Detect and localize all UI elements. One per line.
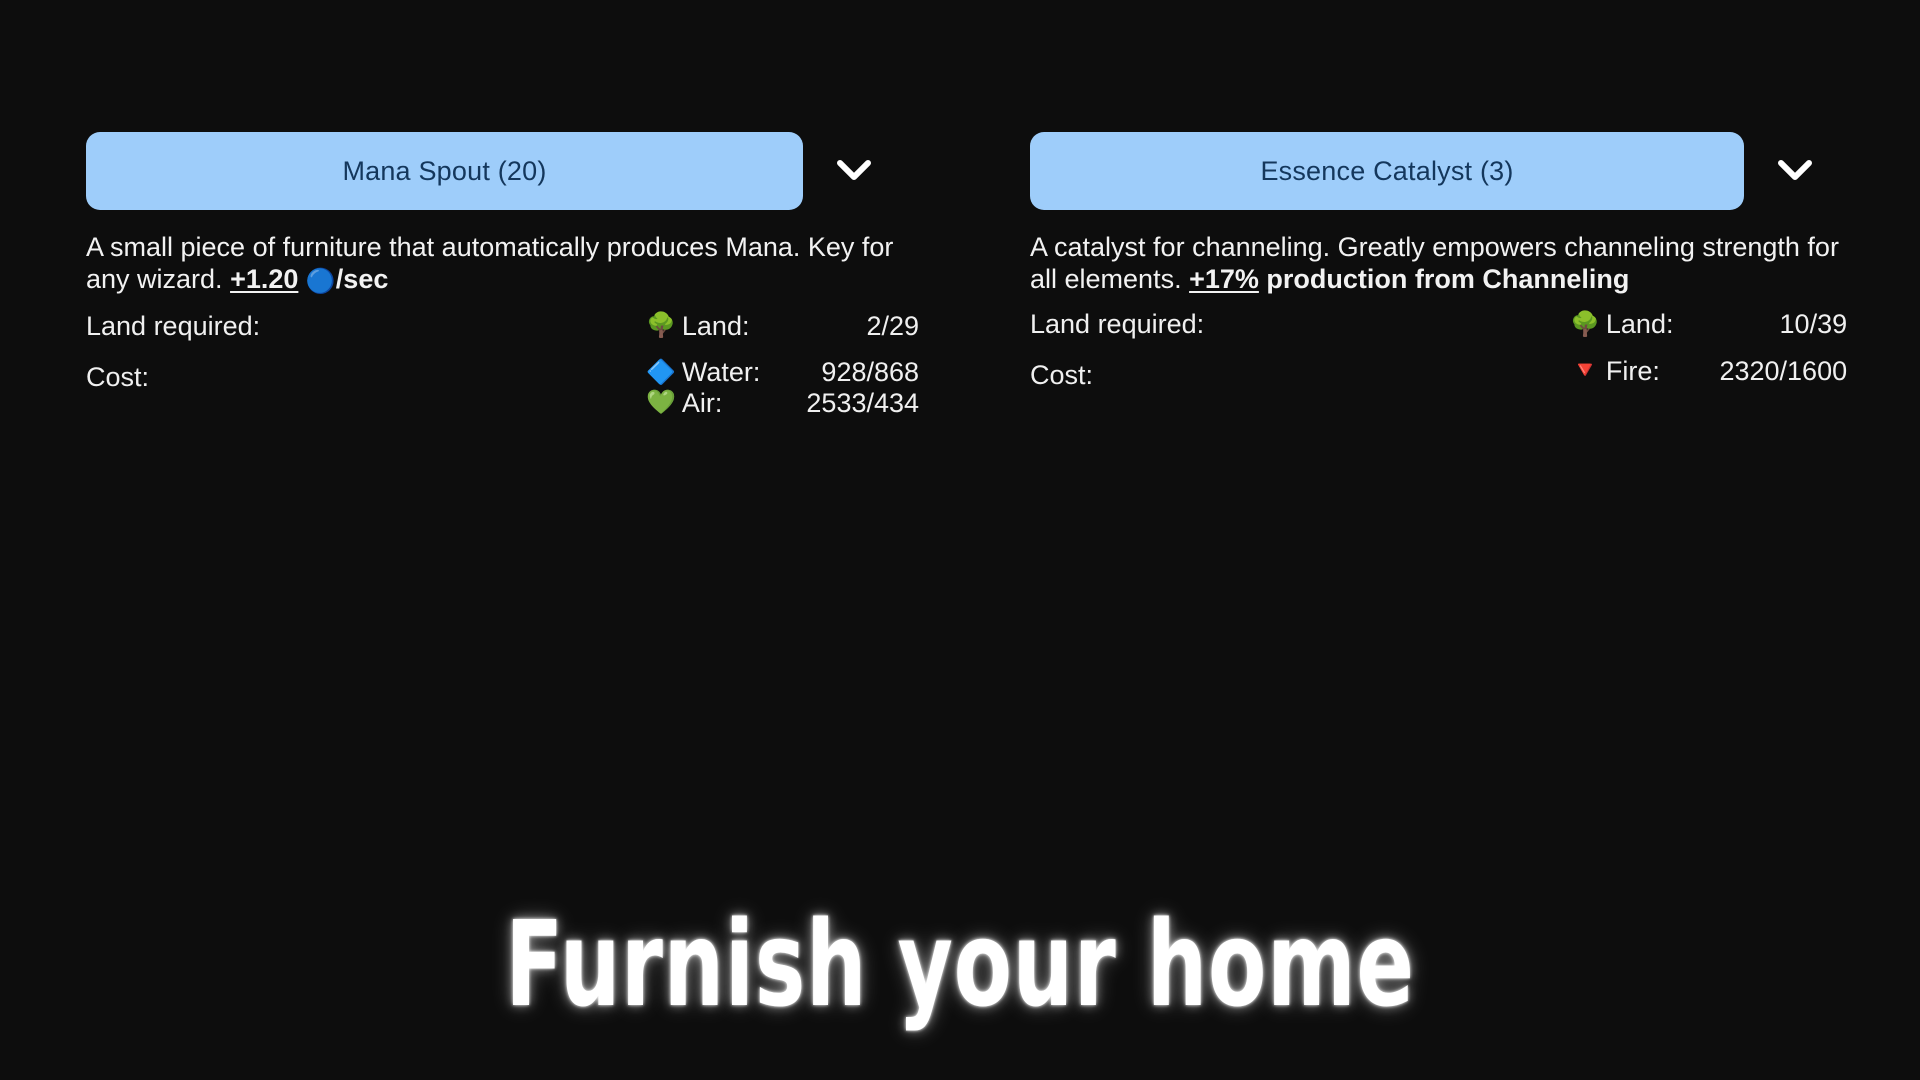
item-button-mana-spout[interactable]: Mana Spout (20) (86, 132, 803, 210)
chevron-down-icon[interactable] (1768, 144, 1822, 198)
chevron-down-icon[interactable] (827, 144, 881, 198)
caption-text: Furnish your home (269, 905, 1651, 1023)
cost-label: Cost: (86, 362, 149, 393)
item-button-essence-catalyst[interactable]: Essence Catalyst (3) (1030, 132, 1744, 210)
air-gem-icon: 💚 (646, 388, 682, 419)
water-gem-icon: 🔷 (646, 357, 682, 388)
description-text: A small piece of furniture that automati… (86, 232, 893, 294)
land-required-label: Land required: (1030, 309, 1204, 340)
cost-label: Cost: (1030, 360, 1093, 391)
boost-suffix: production from Channeling (1259, 264, 1629, 294)
card-header: Mana Spout (20) (86, 132, 958, 210)
land-required-label: Land required: (86, 311, 260, 342)
table-row: 🔻 Fire: 2320/1600 (1570, 356, 1847, 387)
card-header: Essence Catalyst (3) (1030, 132, 1906, 210)
fire-gem-icon: 🔻 (1570, 356, 1606, 387)
land-tree-icon: 🌳 (1570, 309, 1606, 340)
app-background: Mana Spout (20) A small piece of furnitu… (0, 0, 1920, 1080)
resource-name: Land: (682, 311, 761, 342)
spacer-row (1570, 340, 1847, 356)
item-card-mana-spout: Mana Spout (20) A small piece of furnitu… (86, 132, 958, 421)
resource-value: 928/868 (760, 357, 919, 388)
table-row: 🌳 Land: 2/29 (646, 311, 919, 342)
resource-name: Water: (682, 357, 761, 388)
resource-table: 🌳 Land: 2/29 🔷 Water: 928/868 💚 Air: 253… (646, 311, 919, 419)
resource-value: 10/39 (1673, 309, 1847, 340)
resource-value: 2320/1600 (1673, 356, 1847, 387)
table-row: 🔷 Water: 928/868 (646, 357, 919, 388)
mana-orb-icon: 🔵 (306, 268, 336, 295)
resource-value: 2533/434 (760, 388, 919, 419)
boost-suffix: /sec (336, 264, 389, 294)
spacer-row (646, 341, 919, 357)
table-row: 🌳 Land: 10/39 (1570, 309, 1847, 340)
resource-table: 🌳 Land: 10/39 🔻 Fire: 2320/1600 (1570, 309, 1847, 386)
resource-value: 2/29 (760, 311, 919, 342)
boost-value: +1.20 (230, 264, 298, 294)
item-description: A catalyst for channeling. Greatly empow… (1030, 231, 1860, 295)
boost-value: +17% (1189, 264, 1259, 294)
requirements-block: Land required: Cost: 🌳 Land: 2/29 🔷 Wate… (86, 311, 958, 421)
item-description: A small piece of furniture that automati… (86, 231, 916, 297)
resource-name: Land: (1606, 309, 1674, 340)
land-tree-icon: 🌳 (646, 311, 682, 342)
item-card-essence-catalyst: Essence Catalyst (3) A catalyst for chan… (1030, 132, 1906, 419)
requirements-block: Land required: Cost: 🌳 Land: 10/39 🔻 Fir… (1030, 309, 1906, 419)
resource-name: Fire: (1606, 356, 1674, 387)
resource-name: Air: (682, 388, 761, 419)
table-row: 💚 Air: 2533/434 (646, 388, 919, 419)
